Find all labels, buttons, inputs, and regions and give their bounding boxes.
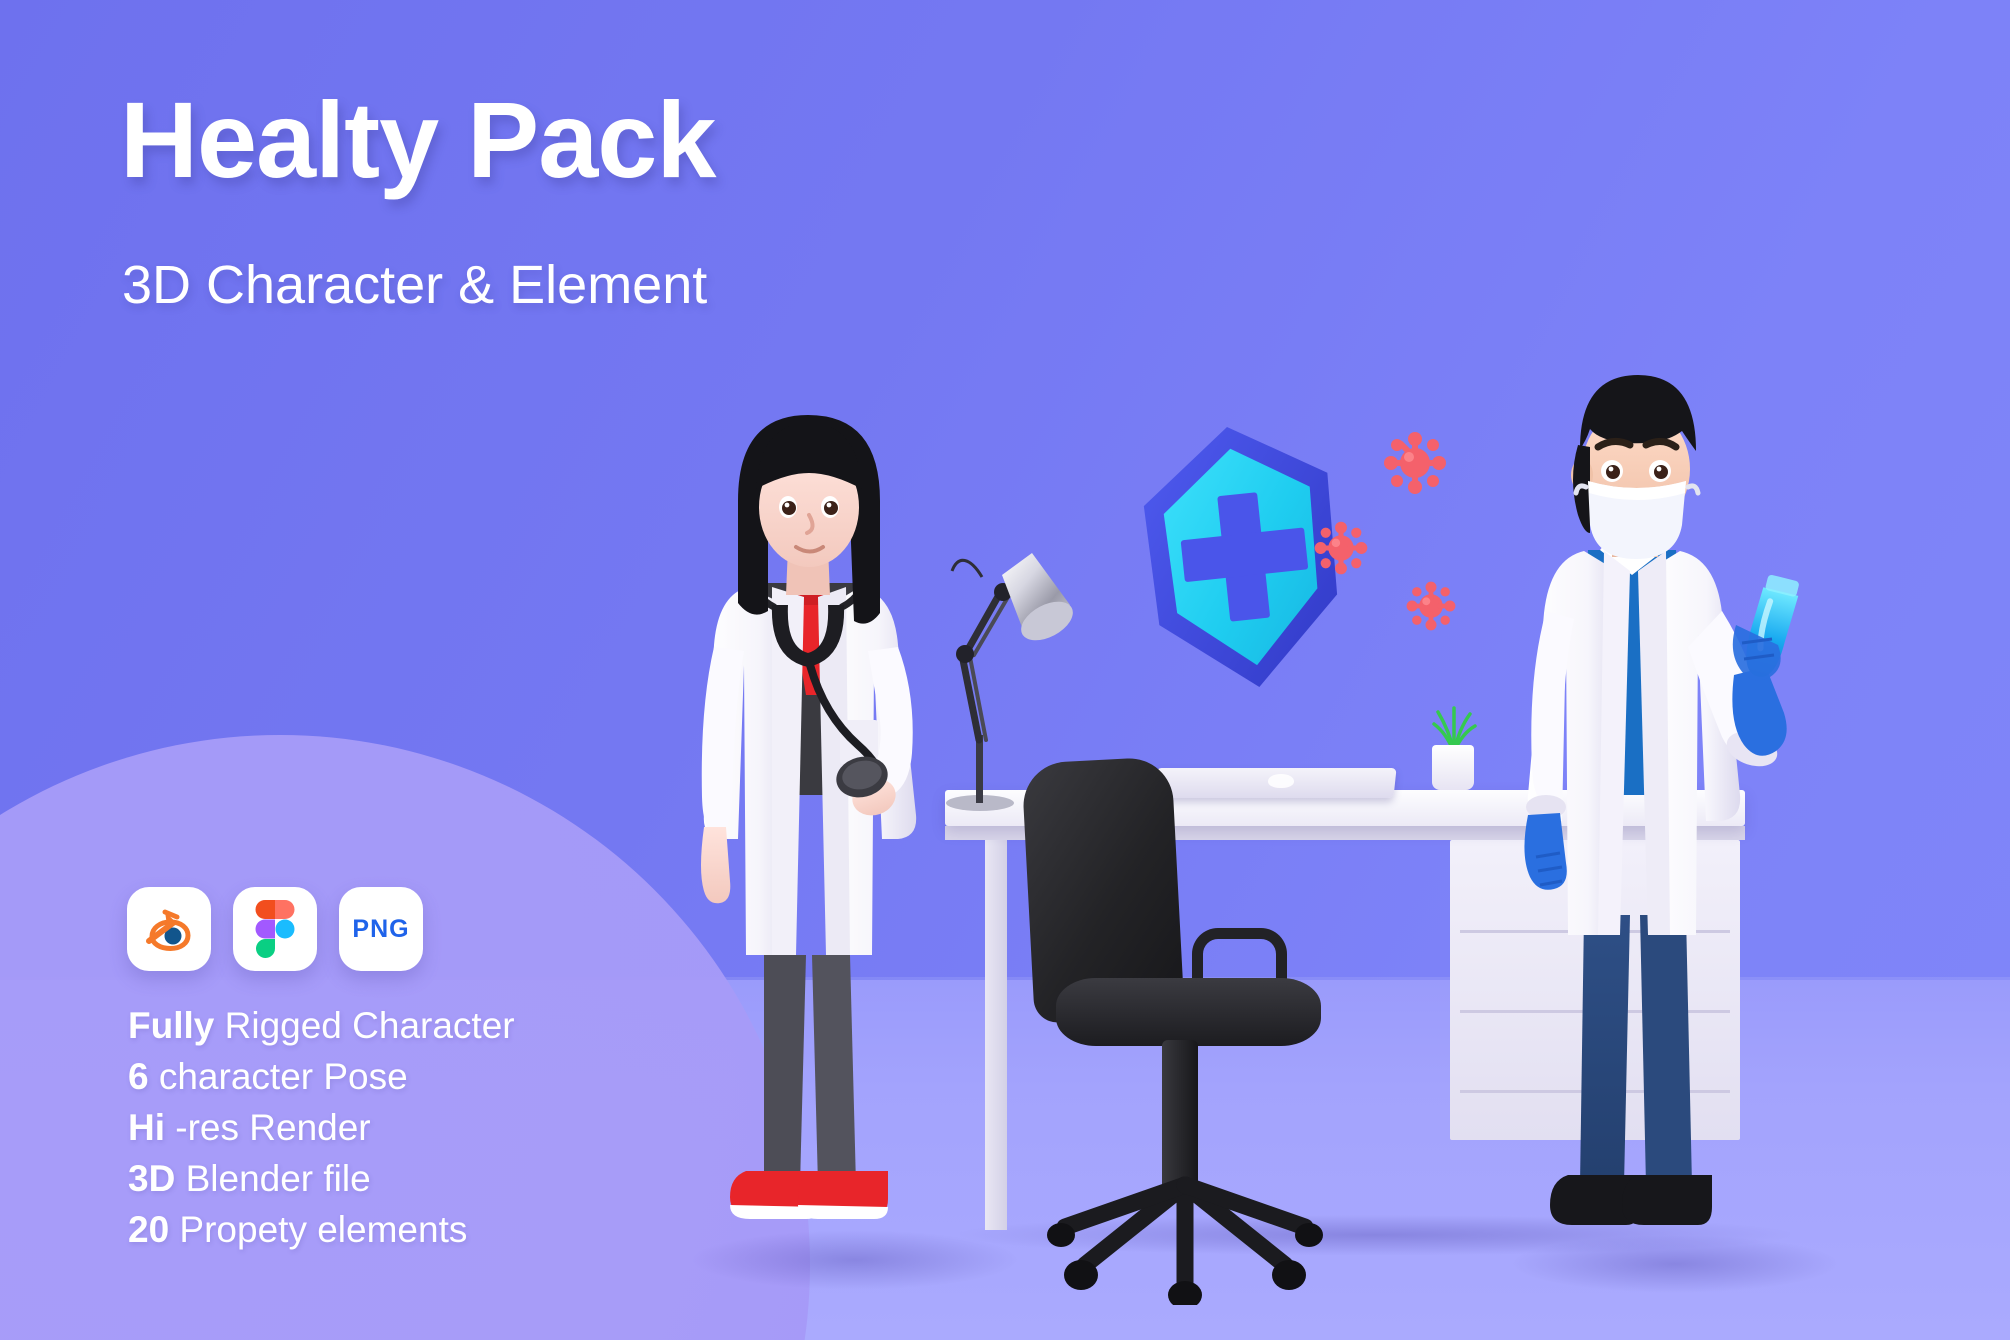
female-doctor-character (660, 415, 960, 1285)
chair-seat (1056, 978, 1321, 1046)
feature-rest: Blender file (175, 1158, 370, 1199)
feature-item: 20 Propety elements (128, 1204, 515, 1255)
virus-particle (1313, 520, 1369, 581)
feature-rest: -res Render (165, 1107, 371, 1148)
feature-strong: 6 (128, 1056, 149, 1097)
feature-item: 6 character Pose (128, 1051, 515, 1102)
badge-blender[interactable] (127, 887, 211, 971)
feature-strong: Hi (128, 1107, 165, 1148)
feature-strong: Fully (128, 1005, 214, 1046)
feature-item: 3D Blender file (128, 1153, 515, 1204)
virus-particle (1382, 430, 1448, 501)
format-badge-group: PNG (127, 887, 423, 971)
desk-leg (985, 840, 1007, 1230)
feature-list: Fully Rigged Character 6 character Pose … (128, 1000, 515, 1255)
virus-particle (1405, 580, 1457, 637)
png-format-icon: PNG (352, 915, 409, 944)
plant-pot (1432, 745, 1474, 790)
feature-item: Fully Rigged Character (128, 1000, 515, 1051)
chair-base (1045, 1165, 1325, 1305)
office-chair (1010, 760, 1340, 1305)
blender-logo-icon (143, 903, 195, 955)
feature-strong: 20 (128, 1209, 169, 1250)
badge-png[interactable]: PNG (339, 887, 423, 971)
feature-rest: Rigged Character (214, 1005, 514, 1046)
feature-rest: character Pose (149, 1056, 408, 1097)
feature-item: Hi -res Render (128, 1102, 515, 1153)
poster-canvas: Healty Pack 3D Character & Element (0, 0, 2010, 1340)
male-doctor-character (1480, 375, 1810, 1285)
page-title: Healty Pack (120, 86, 715, 194)
badge-figma[interactable] (233, 887, 317, 971)
page-subtitle: 3D Character & Element (122, 258, 707, 312)
feature-strong: 3D (128, 1158, 175, 1199)
feature-rest: Propety elements (169, 1209, 467, 1250)
figma-logo-icon (255, 900, 295, 958)
